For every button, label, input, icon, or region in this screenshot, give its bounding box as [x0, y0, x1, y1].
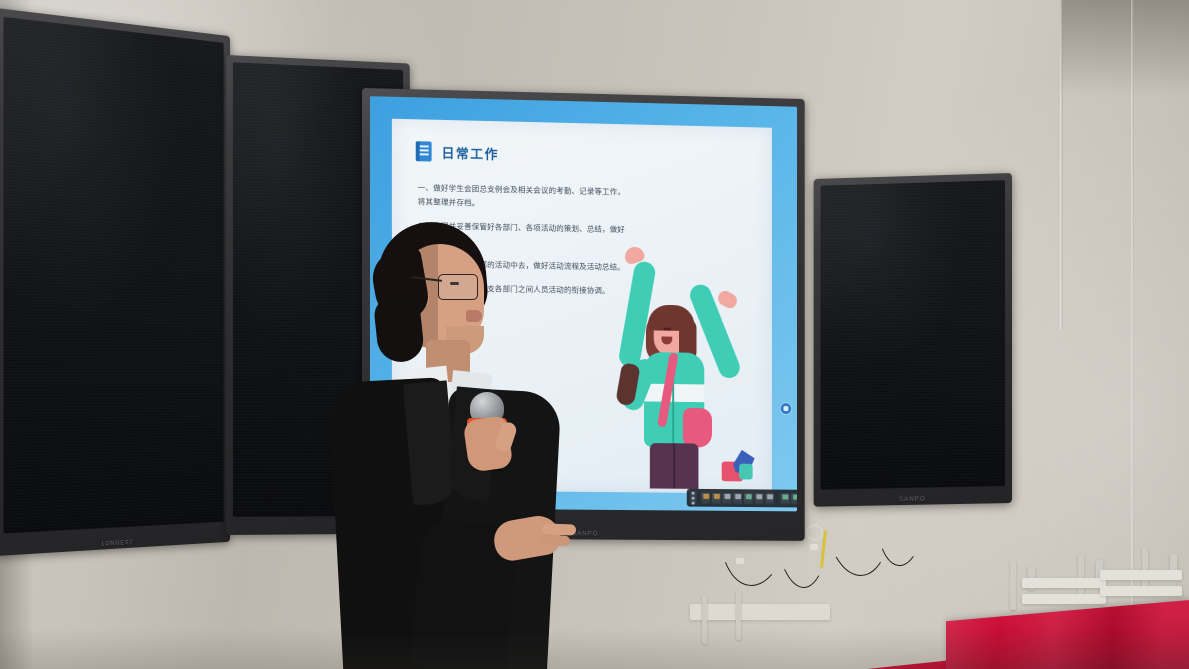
shape-icon[interactable]: [733, 493, 742, 504]
cheering-girl-illustration: [589, 232, 762, 489]
redo-icon[interactable]: [765, 493, 774, 504]
bench: [690, 604, 830, 620]
highlighter-icon[interactable]: [712, 492, 721, 503]
pillar-edge-left: [1060, 0, 1063, 330]
floor-shadow: [0, 629, 1189, 669]
presentation-toolbar[interactable]: [687, 489, 797, 508]
chair-backrest: [1100, 570, 1182, 580]
left-display[interactable]: LONGEST: [0, 8, 230, 556]
undo-icon[interactable]: [755, 493, 764, 504]
pillar-edge-right: [1131, 0, 1134, 669]
presenter-mouth: [466, 310, 482, 322]
table-leg: [1010, 560, 1016, 610]
book-icon: [416, 141, 432, 161]
table-leg: [1078, 554, 1084, 598]
slide-paragraph-1: 一、做好学生会团总支例会及相关会议的考勤、记录等工作，将其整理并存档。: [418, 181, 627, 213]
cable-clip: [810, 544, 818, 550]
next-slide-icon[interactable]: [791, 493, 797, 504]
toolbar-drag-handle[interactable]: [690, 491, 697, 505]
display-logo: SANPO: [899, 497, 926, 503]
table-leg: [1142, 548, 1148, 588]
chair-backrest: [1100, 586, 1182, 596]
classroom-presentation-photo: LONGEST SANPO 日常工作: [0, 0, 1189, 669]
presenter: [330, 222, 610, 669]
presenter-hair-nape: [373, 294, 426, 364]
chair-backrest: [1022, 578, 1106, 588]
slide-title: 日常工作: [442, 142, 499, 162]
cable-clip: [736, 558, 744, 564]
previous-slide-icon[interactable]: [781, 493, 790, 504]
chair-backrest: [1022, 594, 1106, 604]
select-icon[interactable]: [744, 493, 753, 504]
cable-hook: [806, 524, 823, 541]
ceiling-shadow: [1060, 0, 1189, 96]
slide-title-row: 日常工作: [416, 141, 499, 163]
display-screen[interactable]: [3, 17, 223, 534]
toolbar-group-navigation[interactable]: [779, 492, 797, 505]
pen-tool-icon[interactable]: [701, 492, 710, 503]
right-display[interactable]: SANPO: [814, 173, 1012, 507]
display-screen[interactable]: [821, 180, 1005, 489]
slide-side-badge-icon: [781, 403, 792, 414]
eraser-icon[interactable]: [723, 493, 732, 504]
glasses-icon: [438, 274, 478, 300]
toolbar-group-tools[interactable]: [699, 491, 775, 504]
